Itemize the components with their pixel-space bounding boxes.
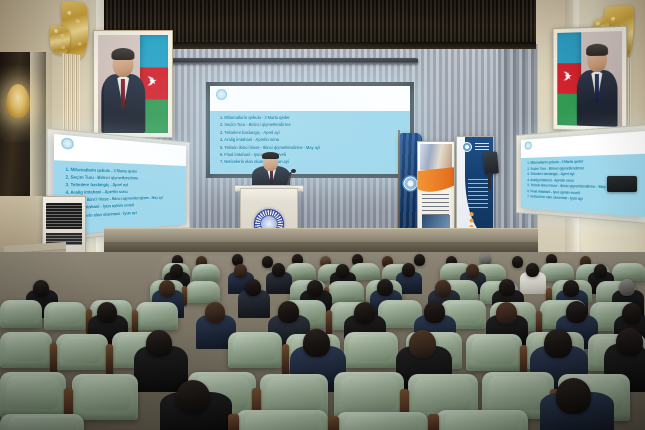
attendee-head bbox=[272, 263, 285, 277]
seat-armrest bbox=[326, 310, 332, 336]
slide-line: 3. Telimlere baslangiç - Aprel ayi bbox=[220, 129, 404, 136]
attendee-head bbox=[97, 302, 117, 323]
attendee-head bbox=[336, 264, 349, 278]
slide-line: 4. Aralig imtahani - Aprelin sonu bbox=[220, 136, 404, 143]
attendee-head bbox=[205, 302, 225, 323]
auditorium-seat bbox=[466, 334, 522, 371]
stage-confidence-monitor bbox=[483, 151, 499, 174]
attendee-head bbox=[262, 256, 273, 268]
circular-institution-logo-icon bbox=[216, 89, 227, 100]
attendee-head bbox=[303, 329, 330, 357]
slide-line: 1. Milumatlarin qebulu - 3 Marta qeder bbox=[220, 114, 404, 121]
attendee-head bbox=[159, 280, 175, 297]
attendee-head bbox=[377, 279, 393, 296]
attendee-head bbox=[354, 302, 375, 324]
auditorium-seat bbox=[136, 302, 178, 330]
seat-armrest bbox=[282, 344, 289, 378]
attendee-head bbox=[146, 330, 172, 357]
slide-line: 2. Seçim Turu - Birinci qiymetlendirme bbox=[220, 121, 404, 128]
auditorium-seat bbox=[44, 302, 86, 330]
attendee-head bbox=[512, 256, 523, 268]
air-vent-grille bbox=[46, 203, 82, 229]
attendee-head bbox=[409, 330, 436, 358]
auditorium-seat bbox=[0, 300, 42, 328]
attendee-head bbox=[594, 264, 607, 278]
slide-header-band bbox=[210, 86, 410, 111]
slide-line: 5. Telimin ikinci hisse - Ikinci qiymetl… bbox=[220, 144, 404, 151]
auditorium-seat bbox=[236, 410, 328, 430]
presenter-tie bbox=[270, 170, 274, 184]
auditorium-seat bbox=[328, 281, 364, 303]
auditorium-seat bbox=[56, 334, 108, 370]
attendee-head bbox=[307, 280, 323, 297]
attendee-head bbox=[414, 254, 425, 266]
seat-armrest bbox=[428, 414, 439, 430]
attendee-head bbox=[496, 302, 517, 324]
wall-sconce-light-icon bbox=[6, 84, 30, 118]
presenter-hair bbox=[262, 152, 279, 159]
attendee-head bbox=[616, 328, 643, 356]
attendee-head bbox=[402, 263, 415, 277]
auditorium-seat bbox=[228, 332, 282, 368]
attendee-head bbox=[466, 264, 479, 278]
wall-mounted-loudspeaker bbox=[607, 176, 637, 192]
attendee-head bbox=[556, 378, 591, 414]
slide-line: 7. Neticelerin elan olunmasi - Iyun ayi bbox=[220, 158, 404, 165]
circular-institution-logo-icon bbox=[61, 137, 74, 149]
attendee-head bbox=[33, 280, 49, 297]
attendee-head bbox=[622, 303, 642, 324]
auditorium-seat bbox=[0, 332, 52, 368]
microphone-capsule bbox=[291, 169, 296, 173]
portrait-heydar-aliyev bbox=[93, 30, 173, 138]
seat-armrest bbox=[228, 414, 239, 430]
auditorium-seat bbox=[336, 412, 428, 430]
auditorium-seat bbox=[436, 410, 528, 430]
attendee-head bbox=[170, 264, 183, 278]
attendee-head bbox=[176, 380, 210, 414]
projection-screen-right: 1. Milumatlarin qebulu - 3 Marta qeder 2… bbox=[521, 131, 645, 217]
seat-armrest bbox=[328, 416, 339, 430]
auditorium-seat bbox=[0, 414, 84, 430]
attendee-head bbox=[245, 279, 261, 296]
attendee-head bbox=[499, 279, 515, 296]
seat-armrest bbox=[106, 344, 113, 378]
auditorium-seat bbox=[192, 264, 220, 281]
attendee-head bbox=[544, 329, 572, 358]
gilded-wall-ornament-icon bbox=[50, 24, 70, 55]
auditorium-scene: 1. Milumatlarin qebulu - 3 Marta qeder 2… bbox=[0, 0, 645, 430]
attendee-head bbox=[234, 264, 247, 278]
slide-body: 1. Milumatlarin qebulu - 3 Marta qeder 2… bbox=[210, 111, 410, 174]
monitor-stand bbox=[488, 173, 491, 189]
main-projection-slide: 1. Milumatlarin qebulu - 3 Marta qeder 2… bbox=[210, 86, 410, 174]
attendee-head bbox=[278, 301, 299, 323]
auditorium-seat bbox=[72, 374, 138, 420]
attendee-head bbox=[424, 301, 445, 323]
attendee-head bbox=[619, 279, 635, 296]
attendee-head bbox=[563, 280, 579, 297]
portrait-ilham-aliyev bbox=[553, 26, 628, 133]
auditorium-seat bbox=[344, 332, 398, 368]
auditorium-seat bbox=[0, 372, 66, 418]
attendee-head bbox=[566, 301, 587, 323]
roll-up-banner-left bbox=[417, 141, 455, 237]
attendee-head bbox=[435, 280, 451, 297]
auditorium-seat bbox=[186, 281, 220, 303]
banner-logo-icon bbox=[462, 142, 472, 152]
slide-line: 6. Final imtahani - Iyun ayinin evveli bbox=[220, 151, 404, 158]
attendee-head bbox=[526, 263, 539, 277]
